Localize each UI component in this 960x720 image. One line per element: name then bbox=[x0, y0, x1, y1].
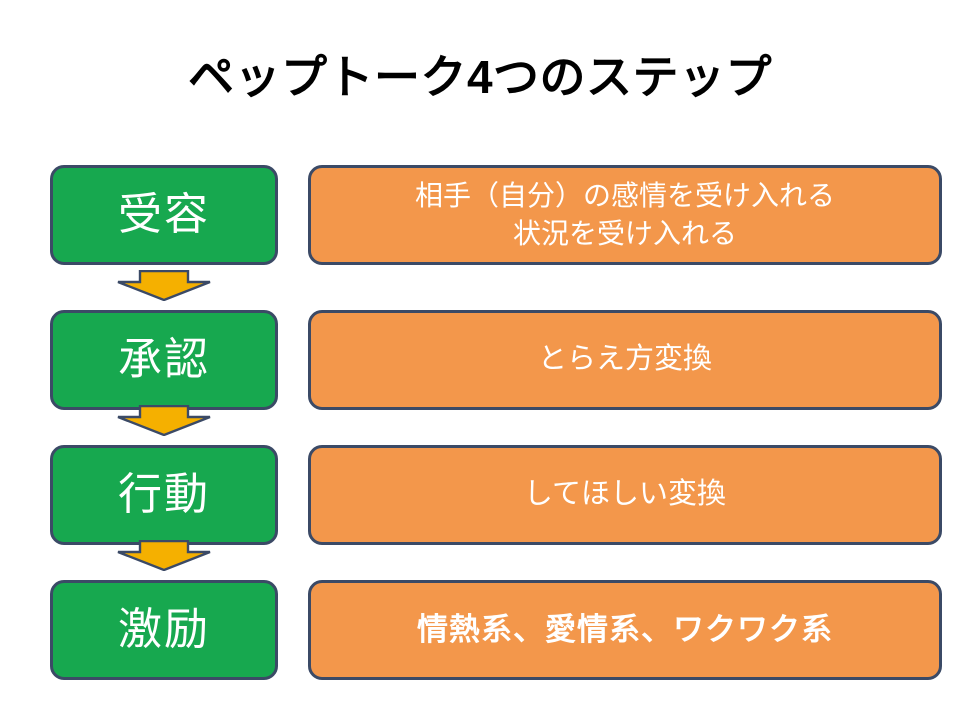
down-arrow-icon-2 bbox=[117, 405, 211, 436]
stage-box-2[interactable]: 承認 bbox=[50, 310, 278, 410]
detail-line-1-1: 相手（自分）の感情を受け入れる bbox=[415, 177, 835, 215]
detail-box-4[interactable]: 情熱系、愛情系、ワクワク系 bbox=[308, 580, 942, 680]
stage-box-1[interactable]: 受容 bbox=[50, 165, 278, 265]
detail-line-2-1: とらえ方変換 bbox=[538, 340, 712, 379]
detail-box-2[interactable]: とらえ方変換 bbox=[308, 310, 942, 410]
detail-line-1-2: 状況を受け入れる bbox=[415, 215, 835, 253]
detail-box-1[interactable]: 相手（自分）の感情を受け入れる 状況を受け入れる bbox=[308, 165, 942, 265]
stage-box-3[interactable]: 行動 bbox=[50, 445, 278, 545]
slide-canvas: ペップトーク4つのステップ 受容 相手（自分）の感情を受け入れる 状況を受け入れ… bbox=[0, 0, 960, 720]
down-arrow-icon-1 bbox=[117, 270, 211, 301]
stage-box-4[interactable]: 激励 bbox=[50, 580, 278, 680]
detail-line-3-1: してほしい変換 bbox=[524, 475, 726, 514]
detail-box-3[interactable]: してほしい変換 bbox=[308, 445, 942, 545]
down-arrow-icon-3 bbox=[117, 540, 211, 571]
page-title: ペップトーク4つのステップ bbox=[0, 52, 960, 103]
detail-line-4-1: 情熱系、愛情系、ワクワク系 bbox=[417, 609, 833, 651]
